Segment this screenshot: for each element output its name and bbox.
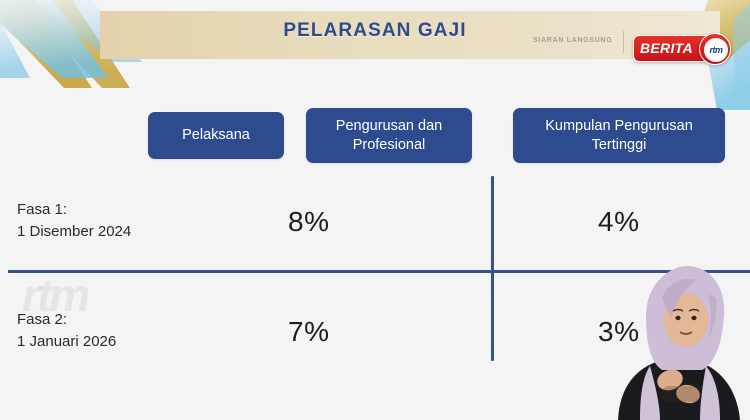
column-header-kumpulan-pengurusan-tertinggi: Kumpulan Pengurusan Tertinggi xyxy=(513,108,725,163)
row-label-fasa-2: Fasa 2: 1 Januari 2026 xyxy=(17,309,116,353)
row-label-fasa-1: Fasa 1: 1 Disember 2024 xyxy=(17,199,131,243)
live-broadcast-label: SIARAN LANGSUNG xyxy=(533,37,612,44)
value-fasa-1-group-b: 4% xyxy=(598,206,639,238)
column-divider xyxy=(491,176,494,361)
rtm-logo-inner: rtm xyxy=(704,38,728,62)
broadcast-graphic: PELARASAN GAJI SIARAN LANGSUNG BERITA rt… xyxy=(0,0,750,420)
rtm-logo-circle: rtm xyxy=(699,33,731,65)
berita-logo: BERITA rtm xyxy=(633,33,737,65)
rtm-logo-text: rtm xyxy=(709,45,722,55)
logo-divider xyxy=(623,31,624,53)
value-fasa-1-group-a: 8% xyxy=(288,206,329,238)
column-header-pengurusan-profesional: Pengurusan dan Profesional xyxy=(306,108,472,163)
value-fasa-2-group-a: 7% xyxy=(288,316,329,348)
sign-language-interpreter xyxy=(610,260,750,420)
berita-logo-text: BERITA xyxy=(640,40,693,56)
column-header-pelaksana: Pelaksana xyxy=(148,112,284,159)
